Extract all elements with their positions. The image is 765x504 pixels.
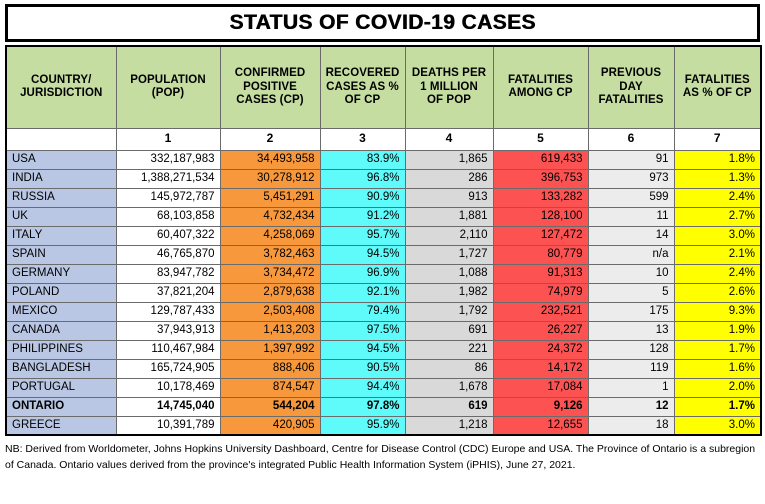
cell-fatalities: 74,979 — [493, 283, 588, 302]
column-header-recovered-percent: RECOVERED CASES AS % OF CP — [320, 46, 405, 128]
cell-recovered-percent: 95.9% — [320, 416, 405, 435]
cell-confirmed-cases: 30,278,912 — [220, 169, 320, 188]
cell-fatalities: 14,172 — [493, 359, 588, 378]
cell-previous-day-fatalities: 10 — [588, 264, 674, 283]
cell-deaths-per-million: 221 — [405, 340, 493, 359]
cell-fatalities-percent: 2.1% — [674, 245, 761, 264]
cell-fatalities: 17,084 — [493, 378, 588, 397]
cell-previous-day-fatalities: 128 — [588, 340, 674, 359]
cell-previous-day-fatalities: 973 — [588, 169, 674, 188]
cell-previous-day-fatalities: 18 — [588, 416, 674, 435]
column-number-3: 3 — [320, 128, 405, 150]
cell-recovered-percent: 90.5% — [320, 359, 405, 378]
table-row: MEXICO129,787,4332,503,40879.4%1,792232,… — [6, 302, 761, 321]
table-header-row: COUNTRY/ JURISDICTION POPULATION (POP) C… — [6, 46, 761, 128]
cell-confirmed-cases: 888,406 — [220, 359, 320, 378]
cell-recovered-percent: 90.9% — [320, 188, 405, 207]
cell-fatalities: 133,282 — [493, 188, 588, 207]
cell-confirmed-cases: 420,905 — [220, 416, 320, 435]
table-row: GREECE10,391,789420,90595.9%1,21812,6551… — [6, 416, 761, 435]
cell-deaths-per-million: 1,865 — [405, 150, 493, 169]
cell-confirmed-cases: 544,204 — [220, 397, 320, 416]
cell-recovered-percent: 94.5% — [320, 340, 405, 359]
table-footnote: NB: Derived from Worldometer, Johns Hopk… — [5, 441, 757, 474]
cell-fatalities-percent: 2.4% — [674, 264, 761, 283]
table-column-number-row: 1 2 3 4 5 6 7 — [6, 128, 761, 150]
cell-fatalities: 232,521 — [493, 302, 588, 321]
cell-country: GREECE — [6, 416, 116, 435]
cell-population: 332,187,983 — [116, 150, 220, 169]
cell-fatalities: 127,472 — [493, 226, 588, 245]
cell-confirmed-cases: 2,879,638 — [220, 283, 320, 302]
cell-deaths-per-million: 691 — [405, 321, 493, 340]
column-number-4: 4 — [405, 128, 493, 150]
cell-population: 129,787,433 — [116, 302, 220, 321]
table-row: RUSSIA145,972,7875,451,29190.9%913133,28… — [6, 188, 761, 207]
cell-confirmed-cases: 874,547 — [220, 378, 320, 397]
column-header-fatalities: FATALITIES AMONG CP — [493, 46, 588, 128]
cell-previous-day-fatalities: 14 — [588, 226, 674, 245]
table-row: USA332,187,98334,493,95883.9%1,865619,43… — [6, 150, 761, 169]
cell-fatalities: 128,100 — [493, 207, 588, 226]
cell-confirmed-cases: 3,782,463 — [220, 245, 320, 264]
cell-deaths-per-million: 1,792 — [405, 302, 493, 321]
cell-country: SPAIN — [6, 245, 116, 264]
table-row: ONTARIO14,745,040544,20497.8%6199,126121… — [6, 397, 761, 416]
cell-deaths-per-million: 1,881 — [405, 207, 493, 226]
column-number-5: 5 — [493, 128, 588, 150]
column-number-1: 1 — [116, 128, 220, 150]
cell-country: POLAND — [6, 283, 116, 302]
column-header-population: POPULATION (POP) — [116, 46, 220, 128]
cell-country: PORTUGAL — [6, 378, 116, 397]
cell-country: BANGLADESH — [6, 359, 116, 378]
cell-country: ITALY — [6, 226, 116, 245]
cell-population: 46,765,870 — [116, 245, 220, 264]
table-row: ITALY60,407,3224,258,06995.7%2,110127,47… — [6, 226, 761, 245]
cell-deaths-per-million: 619 — [405, 397, 493, 416]
cell-country: UK — [6, 207, 116, 226]
cell-fatalities-percent: 2.4% — [674, 188, 761, 207]
column-header-country: COUNTRY/ JURISDICTION — [6, 46, 116, 128]
cell-confirmed-cases: 2,503,408 — [220, 302, 320, 321]
cell-population: 165,724,905 — [116, 359, 220, 378]
cell-fatalities-percent: 1.6% — [674, 359, 761, 378]
cell-fatalities-percent: 2.6% — [674, 283, 761, 302]
cell-population: 68,103,858 — [116, 207, 220, 226]
cell-deaths-per-million: 86 — [405, 359, 493, 378]
cell-previous-day-fatalities: 13 — [588, 321, 674, 340]
table-row: GERMANY83,947,7823,734,47296.9%1,08891,3… — [6, 264, 761, 283]
cell-fatalities: 396,753 — [493, 169, 588, 188]
cell-fatalities: 619,433 — [493, 150, 588, 169]
cell-deaths-per-million: 1,982 — [405, 283, 493, 302]
cell-recovered-percent: 92.1% — [320, 283, 405, 302]
covid-status-table-page: STATUS OF COVID-19 CASES COUNTRY/ JURISD… — [0, 0, 765, 504]
cell-recovered-percent: 94.5% — [320, 245, 405, 264]
table-row: POLAND37,821,2042,879,63892.1%1,98274,97… — [6, 283, 761, 302]
cell-fatalities-percent: 2.7% — [674, 207, 761, 226]
cell-previous-day-fatalities: 11 — [588, 207, 674, 226]
cell-country: CANADA — [6, 321, 116, 340]
table-row: SPAIN46,765,8703,782,46394.5%1,72780,779… — [6, 245, 761, 264]
cell-previous-day-fatalities: 175 — [588, 302, 674, 321]
cell-fatalities-percent: 3.0% — [674, 416, 761, 435]
cell-population: 37,943,913 — [116, 321, 220, 340]
cell-fatalities-percent: 9.3% — [674, 302, 761, 321]
cell-fatalities-percent: 3.0% — [674, 226, 761, 245]
cell-previous-day-fatalities: 119 — [588, 359, 674, 378]
page-title-bar: STATUS OF COVID-19 CASES — [5, 4, 760, 42]
cell-fatalities-percent: 1.7% — [674, 340, 761, 359]
table-row: PHILIPPINES110,467,9841,397,99294.5%2212… — [6, 340, 761, 359]
table-row: UK68,103,8584,732,43491.2%1,881128,10011… — [6, 207, 761, 226]
cell-recovered-percent: 97.8% — [320, 397, 405, 416]
table-body: USA332,187,98334,493,95883.9%1,865619,43… — [6, 150, 761, 435]
column-header-deaths-per-million: DEATHS PER 1 MILLION OF POP — [405, 46, 493, 128]
cell-recovered-percent: 96.9% — [320, 264, 405, 283]
cell-population: 37,821,204 — [116, 283, 220, 302]
cell-country: GERMANY — [6, 264, 116, 283]
column-number-0 — [6, 128, 116, 150]
cell-confirmed-cases: 3,734,472 — [220, 264, 320, 283]
cell-previous-day-fatalities: 1 — [588, 378, 674, 397]
cell-recovered-percent: 83.9% — [320, 150, 405, 169]
cell-previous-day-fatalities: 12 — [588, 397, 674, 416]
column-header-fatalities-percent: FATALITIES AS % OF CP — [674, 46, 761, 128]
cell-fatalities: 91,313 — [493, 264, 588, 283]
cell-confirmed-cases: 4,258,069 — [220, 226, 320, 245]
cell-fatalities: 9,126 — [493, 397, 588, 416]
cell-confirmed-cases: 5,451,291 — [220, 188, 320, 207]
cell-fatalities-percent: 1.3% — [674, 169, 761, 188]
table-row: BANGLADESH165,724,905888,40690.5%8614,17… — [6, 359, 761, 378]
cell-fatalities-percent: 1.7% — [674, 397, 761, 416]
cell-confirmed-cases: 1,397,992 — [220, 340, 320, 359]
column-number-7: 7 — [674, 128, 761, 150]
table-row: PORTUGAL10,178,469874,54794.4%1,67817,08… — [6, 378, 761, 397]
cell-recovered-percent: 79.4% — [320, 302, 405, 321]
cell-country: RUSSIA — [6, 188, 116, 207]
cell-population: 1,388,271,534 — [116, 169, 220, 188]
cell-fatalities-percent: 1.8% — [674, 150, 761, 169]
page-title: STATUS OF COVID-19 CASES — [229, 11, 535, 35]
cell-fatalities: 12,655 — [493, 416, 588, 435]
cell-country: PHILIPPINES — [6, 340, 116, 359]
cell-fatalities-percent: 1.9% — [674, 321, 761, 340]
cell-deaths-per-million: 1,727 — [405, 245, 493, 264]
cell-recovered-percent: 97.5% — [320, 321, 405, 340]
cell-fatalities: 24,372 — [493, 340, 588, 359]
cell-confirmed-cases: 34,493,958 — [220, 150, 320, 169]
cell-deaths-per-million: 1,678 — [405, 378, 493, 397]
cell-country: INDIA — [6, 169, 116, 188]
cell-fatalities-percent: 2.0% — [674, 378, 761, 397]
cell-population: 83,947,782 — [116, 264, 220, 283]
cell-deaths-per-million: 1,218 — [405, 416, 493, 435]
column-header-confirmed-positive-cases: CONFIRMED POSITIVE CASES (CP) — [220, 46, 320, 128]
cell-recovered-percent: 95.7% — [320, 226, 405, 245]
cell-recovered-percent: 96.8% — [320, 169, 405, 188]
table-row: INDIA1,388,271,53430,278,91296.8%286396,… — [6, 169, 761, 188]
cell-population: 60,407,322 — [116, 226, 220, 245]
cell-previous-day-fatalities: 91 — [588, 150, 674, 169]
cell-population: 10,178,469 — [116, 378, 220, 397]
cell-recovered-percent: 91.2% — [320, 207, 405, 226]
cell-previous-day-fatalities: n/a — [588, 245, 674, 264]
cell-country: ONTARIO — [6, 397, 116, 416]
cell-population: 110,467,984 — [116, 340, 220, 359]
cell-population: 14,745,040 — [116, 397, 220, 416]
cell-fatalities: 80,779 — [493, 245, 588, 264]
covid-statistics-table: COUNTRY/ JURISDICTION POPULATION (POP) C… — [5, 45, 762, 436]
cell-previous-day-fatalities: 599 — [588, 188, 674, 207]
cell-country: MEXICO — [6, 302, 116, 321]
column-number-6: 6 — [588, 128, 674, 150]
table-row: CANADA37,943,9131,413,20397.5%69126,2271… — [6, 321, 761, 340]
column-number-2: 2 — [220, 128, 320, 150]
cell-recovered-percent: 94.4% — [320, 378, 405, 397]
cell-deaths-per-million: 1,088 — [405, 264, 493, 283]
cell-deaths-per-million: 286 — [405, 169, 493, 188]
cell-population: 145,972,787 — [116, 188, 220, 207]
cell-fatalities: 26,227 — [493, 321, 588, 340]
cell-confirmed-cases: 4,732,434 — [220, 207, 320, 226]
cell-population: 10,391,789 — [116, 416, 220, 435]
cell-confirmed-cases: 1,413,203 — [220, 321, 320, 340]
cell-previous-day-fatalities: 5 — [588, 283, 674, 302]
cell-country: USA — [6, 150, 116, 169]
column-header-previous-day-fatalities: PREVIOUS DAY FATALITIES — [588, 46, 674, 128]
cell-deaths-per-million: 2,110 — [405, 226, 493, 245]
cell-deaths-per-million: 913 — [405, 188, 493, 207]
